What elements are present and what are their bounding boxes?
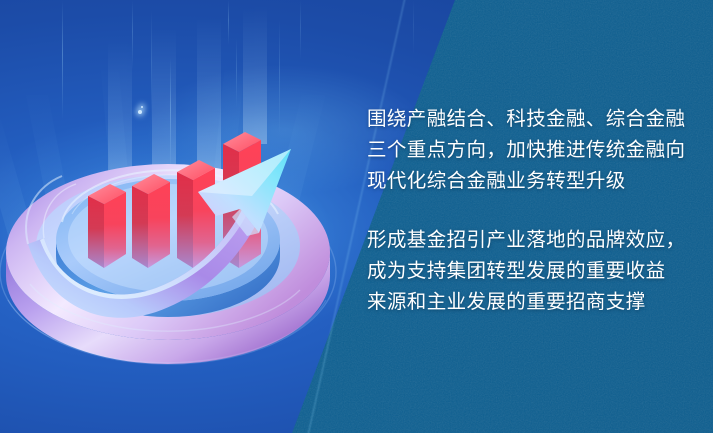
- growth-chart-illustration: [0, 0, 340, 433]
- paragraph-1-line-3: 现代化综合金融业务转型升级: [367, 166, 677, 197]
- paragraph-2-line-3: 来源和主业发展的重要招商支撑: [367, 287, 677, 318]
- paragraph-2: 形成基金招引产业落地的品牌效应， 成为支持集团转型发展的重要收益 来源和主业发展…: [367, 225, 677, 318]
- paragraph-1-line-2: 三个重点方向，加快推进传统金融向: [367, 135, 677, 166]
- bar-2: [132, 174, 170, 268]
- paragraph-2-line-1: 形成基金招引产业落地的品牌效应，: [367, 225, 677, 256]
- bar-1: [88, 184, 126, 268]
- paragraph-1: 围绕产融结合、科技金融、综合金融 三个重点方向，加快推进传统金融向 现代化综合金…: [367, 104, 677, 197]
- banner-root: 围绕产融结合、科技金融、综合金融 三个重点方向，加快推进传统金融向 现代化综合金…: [0, 0, 713, 433]
- paragraph-2-line-2: 成为支持集团转型发展的重要收益: [367, 256, 677, 287]
- paragraph-1-line-1: 围绕产融结合、科技金融、综合金融: [367, 104, 677, 135]
- copy-block: 围绕产融结合、科技金融、综合金融 三个重点方向，加快推进传统金融向 现代化综合金…: [367, 104, 677, 318]
- bar-3: [177, 160, 215, 268]
